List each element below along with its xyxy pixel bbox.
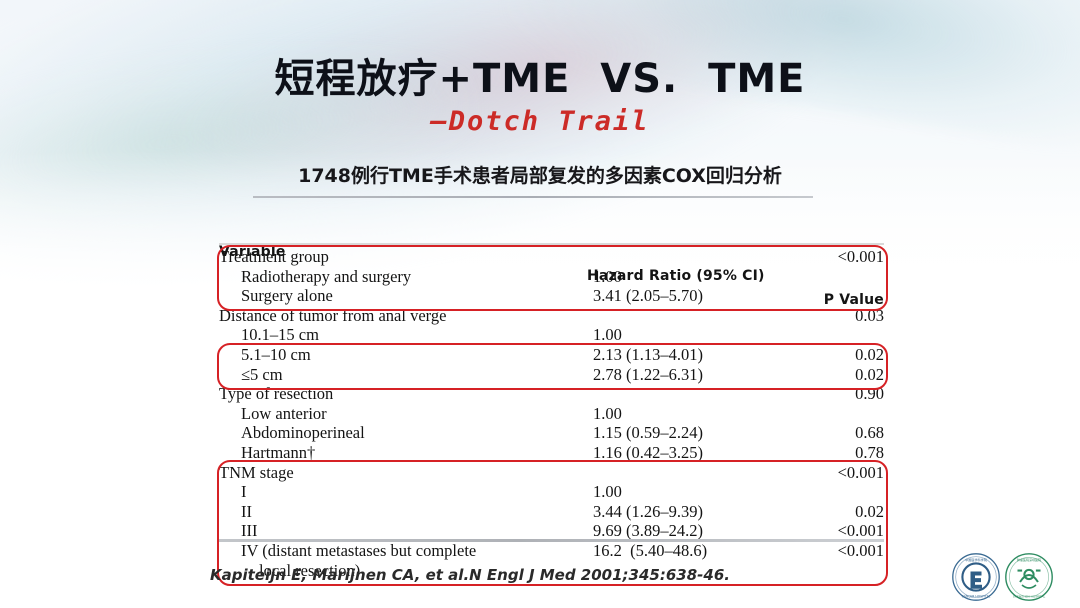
cell-hazard-ratio: 2.13 (1.13–4.01) [593,345,703,365]
citation-text: Kapiteijn E, Marijnen CA, et al.N Engl J… [0,566,940,584]
cell-hazard-ratio: 1.00 [593,482,622,502]
table-row: Abdominoperineal1.15 (0.59–2.24)0.68 [219,423,884,443]
cox-regression-table: Variable Hazard Ratio (95% CI) P Value T… [219,216,884,240]
table-header-rule [219,243,884,245]
cell-variable: Distance of tumor from anal verge [219,306,446,326]
svg-text:肿瘤医院深圳医院: 肿瘤医院深圳医院 [1017,557,1041,562]
cell-hazard-ratio: 1.00 [593,325,622,345]
table-row: 5.1–10 cm2.13 (1.13–4.01)0.02 [219,345,884,365]
table-row: Distance of tumor from anal verge0.03 [219,306,884,326]
cell-p-value: <0.001 [809,463,884,483]
table-row: Type of resection0.90 [219,384,884,404]
table-row: TNM stage<0.001 [219,463,884,483]
table-row: Radiotherapy and surgery1.00 [219,267,884,287]
cell-variable: IV (distant metastases but complete [219,541,476,561]
cell-variable: Hartmann† [219,443,315,463]
cell-variable: I [219,482,247,502]
table-row: II3.44 (1.26–9.39)0.02 [219,502,884,522]
hospital-logo-blue-icon: 中国医学科学院 CANCER HOSPITAL [951,552,1001,602]
cell-variable: Surgery alone [219,286,333,306]
slide-title: 短程放疗+TME VS. TME [0,46,1080,104]
cell-hazard-ratio: 1.15 (0.59–2.24) [593,423,703,443]
table-footer-rule [219,539,884,542]
cell-hazard-ratio: 1.00 [593,404,622,424]
cell-p-value: 0.03 [809,306,884,326]
cell-hazard-ratio: 1.00 [593,267,622,287]
table-header-row: Variable Hazard Ratio (95% CI) P Value [219,216,884,240]
cell-p-value: 0.02 [809,345,884,365]
cell-variable: Radiotherapy and surgery [219,267,411,287]
table-row: Hartmann†1.16 (0.42–3.25)0.78 [219,443,884,463]
cell-p-value: <0.001 [809,247,884,267]
cell-variable: III [219,521,257,541]
cell-hazard-ratio: 3.41 (2.05–5.70) [593,286,703,306]
svg-text:SHENZHEN HOSPITAL: SHENZHEN HOSPITAL [1013,594,1046,598]
cell-hazard-ratio: 2.78 (1.22–6.31) [593,365,703,385]
cell-p-value: 0.02 [809,502,884,522]
cell-variable: Treatment group [219,247,329,267]
svg-text:CANCER HOSPITAL: CANCER HOSPITAL [962,595,991,599]
svg-text:中国医学科学院: 中国医学科学院 [965,557,987,562]
section-heading: 1748例行TME手术患者局部复发的多因素COX回归分析 [0,161,1080,188]
cell-p-value: <0.001 [809,541,884,561]
table-row: 10.1–15 cm1.00 [219,325,884,345]
cell-variable: Low anterior [219,404,327,424]
table-body: Treatment group<0.001Radiotherapy and su… [219,247,884,580]
table-row: I1.00 [219,482,884,502]
cell-hazard-ratio: 9.69 (3.89–24.2) [593,521,703,541]
table-row: IV (distant metastases but complete16.2 … [219,541,884,561]
cell-p-value: 0.78 [809,443,884,463]
cell-hazard-ratio: 16.2 (5.40–48.6) [593,541,707,561]
slide-canvas: 短程放疗+TME VS. TME —Dotch Trail 1748例行TME手… [0,0,1080,608]
cell-variable: 5.1–10 cm [219,345,311,365]
cell-hazard-ratio: 3.44 (1.26–9.39) [593,502,703,522]
table-row: ≤5 cm2.78 (1.22–6.31)0.02 [219,365,884,385]
cell-p-value: <0.001 [809,521,884,541]
cell-variable: TNM stage [219,463,294,483]
table-row: III9.69 (3.89–24.2)<0.001 [219,521,884,541]
table-row: Surgery alone3.41 (2.05–5.70) [219,286,884,306]
cell-hazard-ratio: 1.16 (0.42–3.25) [593,443,703,463]
table-row: Treatment group<0.001 [219,247,884,267]
cell-p-value: 0.68 [809,423,884,443]
cell-variable: II [219,502,252,522]
cell-variable: Abdominoperineal [219,423,365,443]
cell-p-value: 0.02 [809,365,884,385]
slide-subtitle: —Dotch Trail [0,106,1080,137]
cell-variable: ≤5 cm [219,365,283,385]
heading-divider [253,196,813,198]
cell-variable: 10.1–15 cm [219,325,319,345]
cell-p-value: 0.90 [809,384,884,404]
institute-logo-green-icon: 肿瘤医院深圳医院 SHENZHEN HOSPITAL [1004,552,1054,602]
table-row: Low anterior1.00 [219,404,884,424]
cell-variable: Type of resection [219,384,333,404]
